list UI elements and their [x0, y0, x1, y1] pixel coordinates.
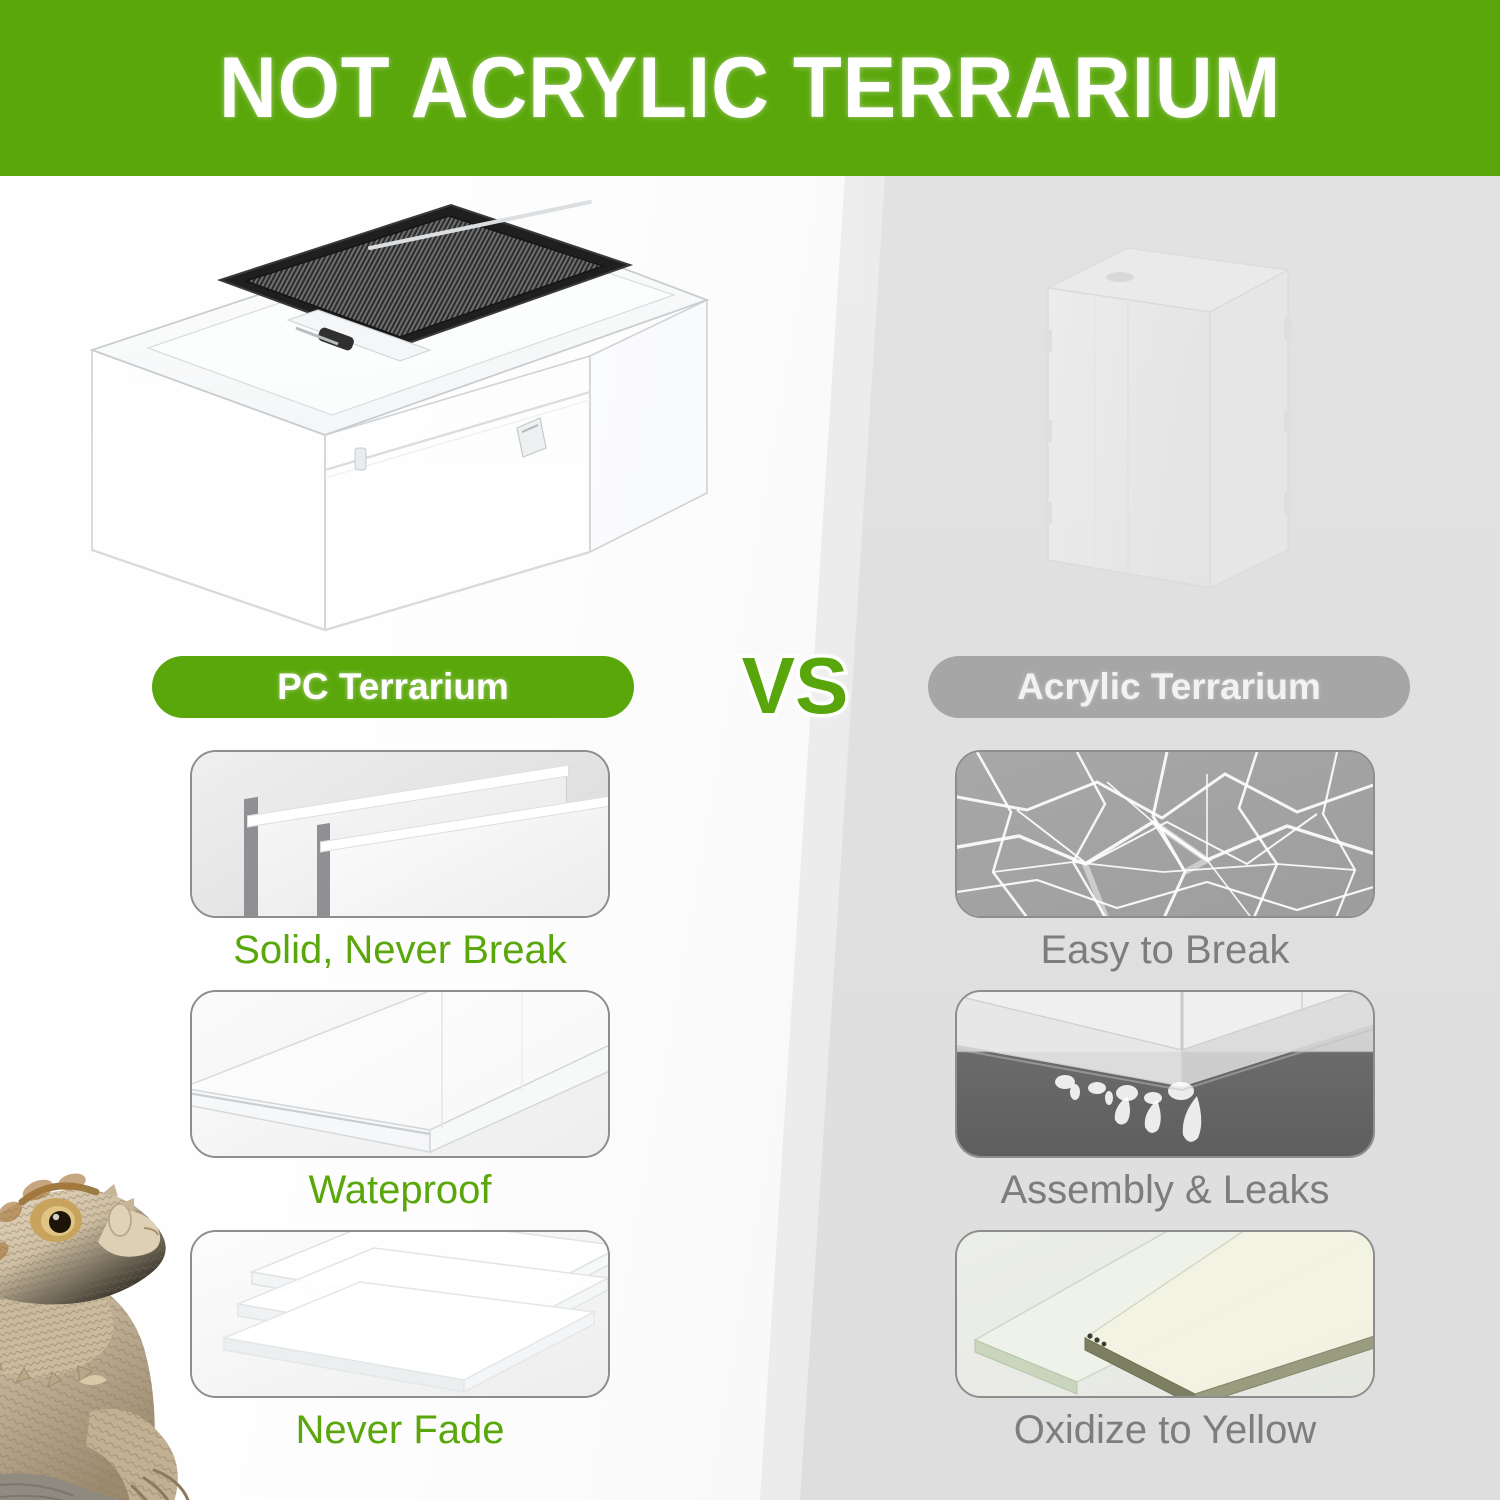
- page-title: NOT ACRYLIC TERRARIUM: [219, 39, 1281, 138]
- bearded-dragon-photo: [0, 1082, 234, 1500]
- comparison-header-row: PC Terrarium VS Acrylic Terrarium: [0, 648, 1500, 730]
- feature-item-solid: Solid, Never Break: [190, 750, 610, 973]
- feature-item-assembly-leaks: Assembly & Leaks: [955, 990, 1375, 1213]
- feature-label: Wateproof: [190, 1168, 610, 1213]
- feature-label: Oxidize to Yellow: [955, 1408, 1375, 1453]
- feature-item-easy-break: Easy to Break: [955, 750, 1375, 973]
- acrylic-terrarium-pill: Acrylic Terrarium: [928, 656, 1410, 718]
- acrylic-terrarium-photo: [1000, 230, 1340, 630]
- pc-terrarium-pill: PC Terrarium: [152, 656, 634, 718]
- feature-item-waterproof: Wateproof: [190, 990, 610, 1213]
- yellowed-sheets-icon: [955, 1230, 1375, 1398]
- header-banner: NOT ACRYLIC TERRARIUM: [0, 0, 1500, 176]
- pc-terrarium-photo: [70, 160, 730, 640]
- feature-label: Never Fade: [190, 1408, 610, 1453]
- feature-label: Assembly & Leaks: [955, 1168, 1375, 1213]
- cracked-glass-icon: [955, 750, 1375, 918]
- stacked-clear-sheets-icon: [190, 1230, 610, 1398]
- seamless-clear-corner-icon: [190, 990, 610, 1158]
- leaking-seam-icon: [955, 990, 1375, 1158]
- vs-label: VS: [700, 640, 890, 732]
- feature-item-oxidize-yellow: Oxidize to Yellow: [955, 1230, 1375, 1453]
- feature-label: Solid, Never Break: [190, 928, 610, 973]
- pc-sheets-on-edge-icon: [190, 750, 610, 918]
- feature-item-never-fade: Never Fade: [190, 1230, 610, 1453]
- infographic-page: NOT ACRYLIC TERRARIUM: [0, 0, 1500, 1500]
- feature-label: Easy to Break: [955, 928, 1375, 973]
